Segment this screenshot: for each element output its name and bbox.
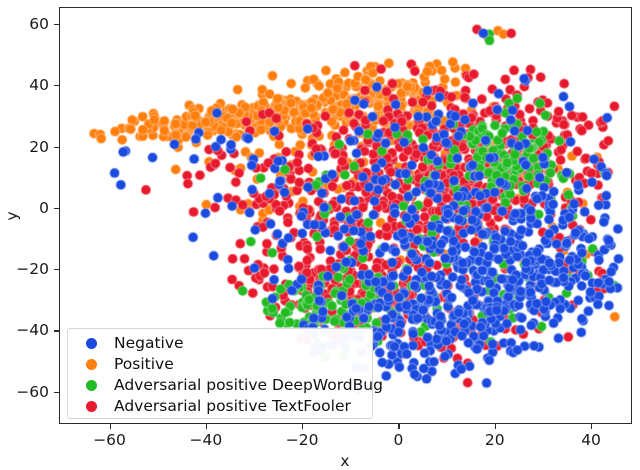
y-tick (54, 392, 59, 393)
legend-marker-icon (86, 401, 97, 412)
x-tick (398, 424, 399, 429)
x-tick (302, 424, 303, 429)
x-tick-label: 40 (581, 431, 601, 449)
x-tick-label: 0 (394, 431, 404, 449)
y-tick (54, 208, 59, 209)
x-tick (206, 424, 207, 429)
legend-label: Negative (114, 336, 184, 352)
legend-item-negative[interactable]: Negative (74, 333, 364, 354)
legend-marker-icon (86, 380, 97, 391)
y-tick-label: 0 (39, 199, 49, 217)
y-tick-label: −40 (16, 321, 49, 339)
y-tick (54, 330, 59, 331)
legend-label: Adversarial positive DeepWordBug (114, 378, 383, 394)
x-tick-label: 20 (485, 431, 505, 449)
x-tick (110, 424, 111, 429)
legend-item-positive[interactable]: Positive (74, 354, 364, 375)
legend-marker-icon (86, 338, 97, 349)
y-tick (54, 269, 59, 270)
y-tick (54, 147, 59, 148)
legend: Negative Positive Adversarial positive D… (67, 328, 373, 419)
y-tick-label: 20 (29, 138, 49, 156)
y-tick (54, 24, 59, 25)
x-tick (495, 424, 496, 429)
y-tick-label: 40 (29, 76, 49, 94)
x-tick-label: −60 (93, 431, 126, 449)
y-tick-label: 60 (29, 15, 49, 33)
y-tick-label: −60 (16, 383, 49, 401)
legend-label: Adversarial positive TextFooler (114, 399, 351, 415)
scatter-plot-figure: −60−40−2002040 −60−40−200204060 x y Nega… (0, 0, 640, 469)
legend-marker-icon (86, 359, 97, 370)
legend-item-adversarial-deepwordbug[interactable]: Adversarial positive DeepWordBug (74, 375, 364, 396)
x-axis-label: x (340, 452, 349, 470)
y-tick-label: −20 (16, 260, 49, 278)
y-tick (54, 85, 59, 86)
x-tick (591, 424, 592, 429)
legend-item-adversarial-textfooler[interactable]: Adversarial positive TextFooler (74, 396, 364, 417)
y-axis-label: y (3, 211, 21, 220)
x-tick-label: −40 (190, 431, 223, 449)
x-tick-label: −20 (286, 431, 319, 449)
legend-label: Positive (114, 357, 174, 373)
